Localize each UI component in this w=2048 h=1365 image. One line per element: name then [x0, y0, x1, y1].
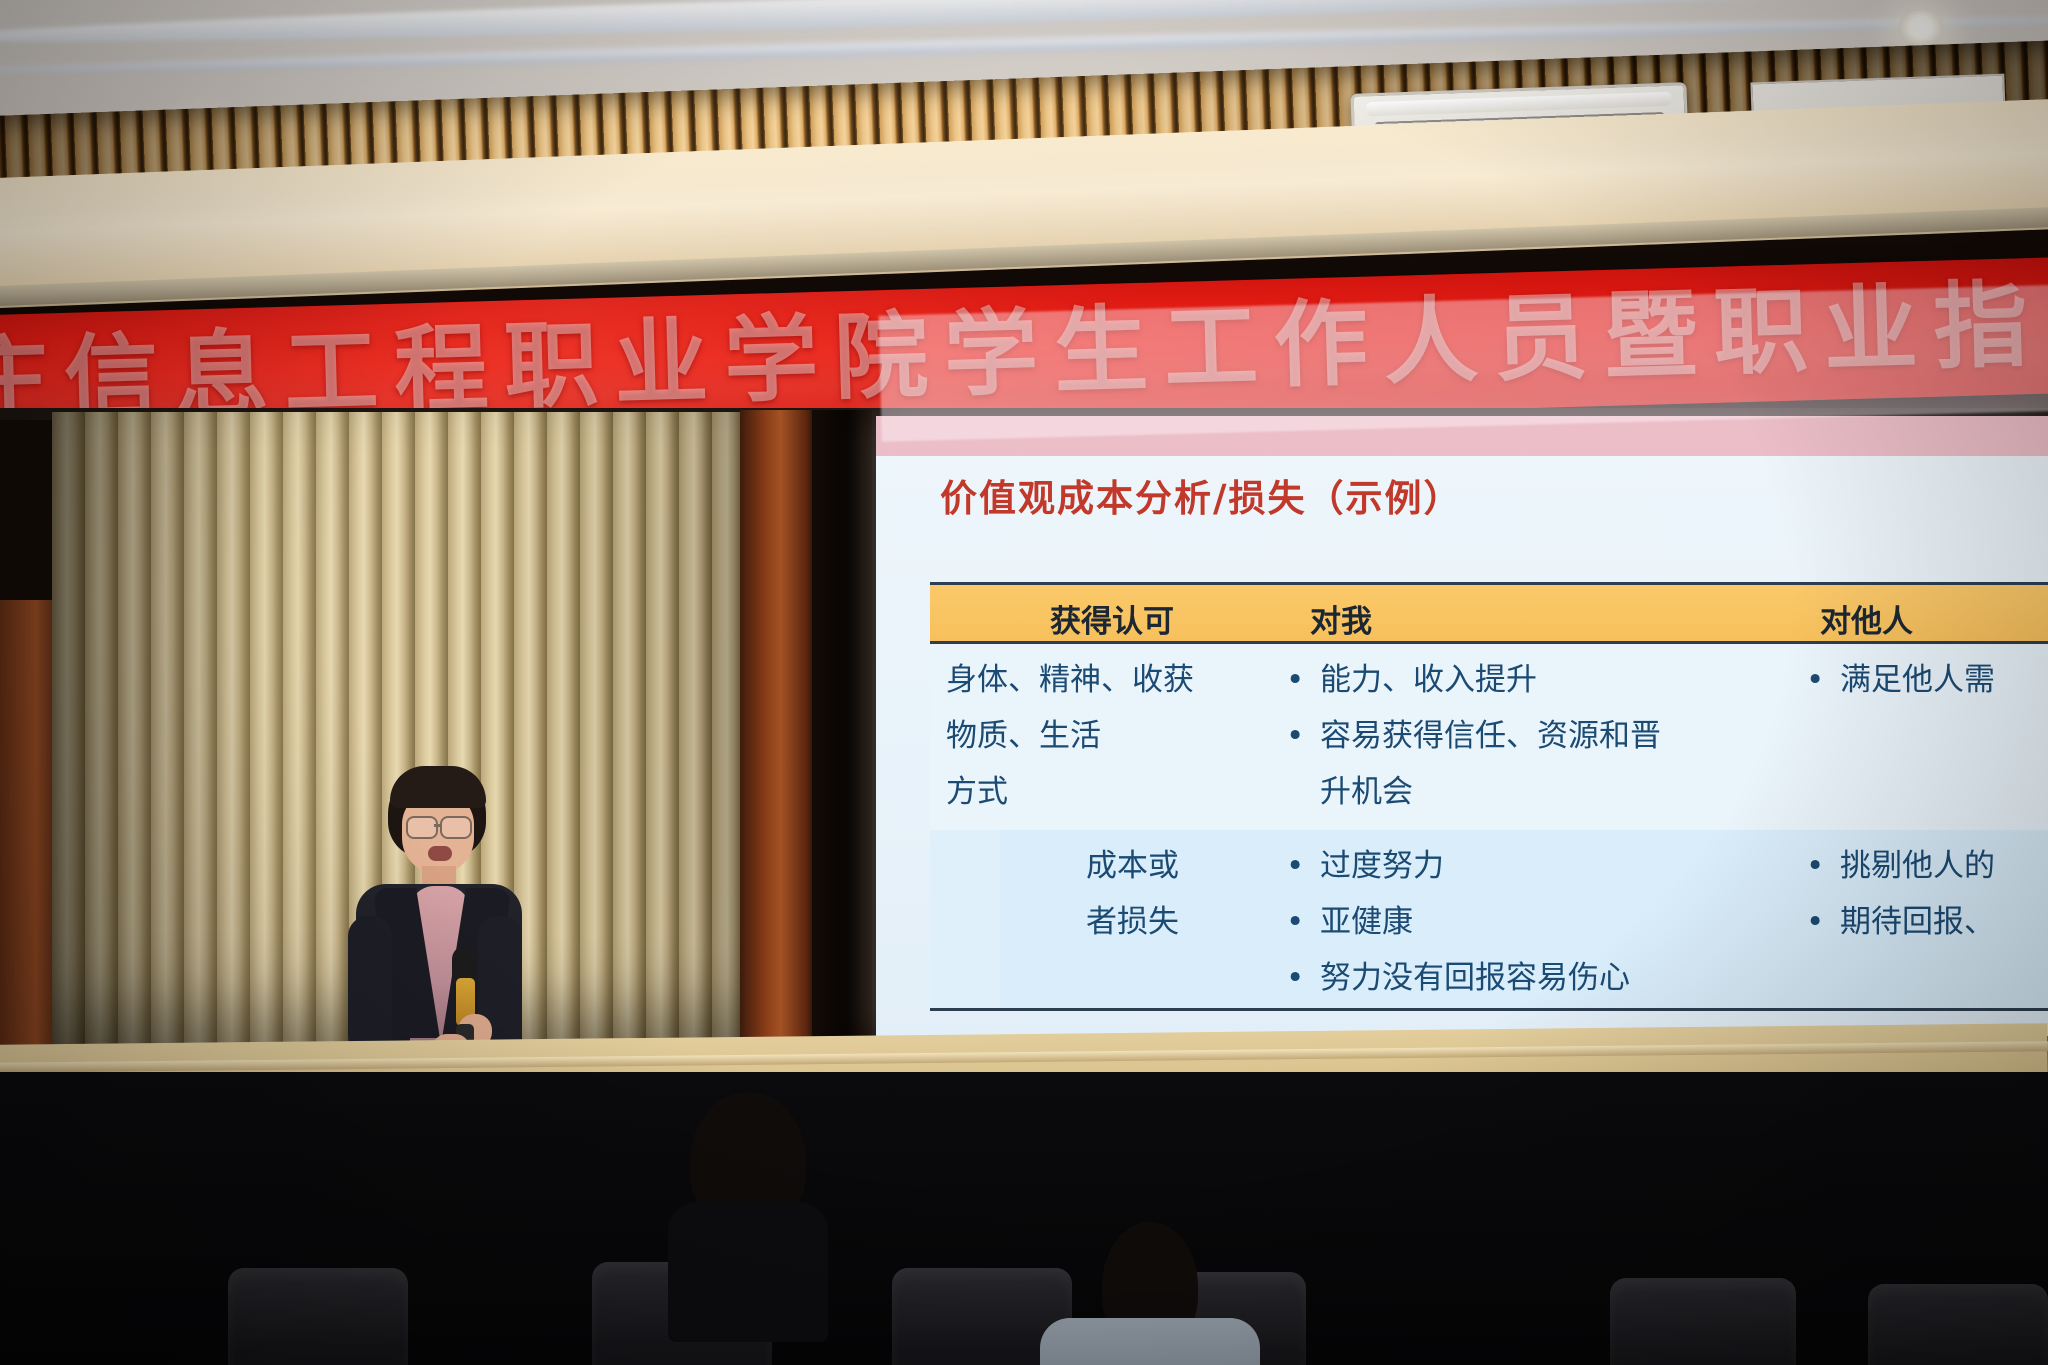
audience-area	[0, 1072, 2048, 1365]
side-door	[0, 600, 60, 1060]
table-cell-bullet-item: •努力没有回报容易伤心	[1286, 950, 1630, 1006]
presenter-fringe	[390, 766, 486, 808]
table-cell-text: 方式	[946, 764, 1008, 820]
glasses-bridge	[434, 824, 441, 827]
bullet-icon: •	[1286, 950, 1320, 1006]
bullet-icon: •	[1286, 894, 1320, 950]
microphone-icon	[452, 946, 478, 982]
table-cell-text: 成本或	[1086, 838, 1179, 894]
bullet-icon: •	[1286, 652, 1320, 708]
glasses-icon	[406, 816, 438, 839]
table-cell-bullet-item: •容易获得信任、资源和晋	[1286, 708, 1661, 764]
table-cell-bullet-item: •挑剔他人的	[1806, 838, 1995, 894]
table-cell-bullet-item: •亚健康	[1286, 894, 1413, 950]
bullet-icon: •	[1806, 894, 1840, 950]
left-dark-wall	[0, 420, 58, 610]
presenter-arm-left	[348, 916, 392, 1056]
presenter-mouth	[428, 846, 452, 861]
audience-seat[interactable]	[1868, 1284, 2048, 1365]
auditorium-photo: 庄信息工程职业学院学生工作人员暨职业指 价值观成本分析/损失（示例） 获得认可 …	[0, 0, 2048, 1365]
bullet-text: 努力没有回报容易伤心	[1320, 960, 1630, 996]
attendee-body	[1040, 1318, 1260, 1365]
bullet-text: 容易获得信任、资源和晋	[1320, 718, 1661, 754]
slide-title: 价值观成本分析/损失（示例）	[940, 468, 1640, 522]
list-item	[1040, 1222, 1260, 1365]
table-cell-bullet-item: •满足他人需	[1806, 652, 1995, 708]
downlight-icon	[1898, 10, 1944, 48]
table-cell-text: 物质、生活	[946, 708, 1101, 764]
attendee-body	[668, 1202, 828, 1342]
table-bottom-rule	[930, 1008, 2048, 1011]
table-cell-bullet-item: •过度努力	[1286, 838, 1444, 894]
bullet-text: 期待回报、	[1840, 904, 1995, 940]
audience-seat[interactable]	[1610, 1278, 1796, 1365]
table-header-cell-to-others: 对他人	[1820, 596, 1913, 641]
table-cell-bullet-item: •期待回报、	[1806, 894, 1995, 950]
bullet-text: 亚健康	[1320, 904, 1413, 940]
table-cell-text: 者损失	[1086, 894, 1179, 950]
bullet-icon: •	[1806, 838, 1840, 894]
dark-gap	[812, 410, 872, 1070]
glasses-icon	[440, 816, 472, 839]
bullet-text: 能力、收入提升	[1320, 662, 1537, 698]
bullet-text: 挑剔他人的	[1840, 848, 1995, 884]
bullet-text: 过度努力	[1320, 848, 1444, 884]
table-cell-text: 身体、精神、收获	[946, 652, 1194, 708]
table-cell-text: 升机会	[1286, 764, 1413, 820]
table-cell-bullet-item: •能力、收入提升	[1286, 652, 1537, 708]
audience-seat[interactable]	[228, 1268, 408, 1365]
wooden-pillar	[740, 410, 814, 1070]
bullet-icon: •	[1806, 652, 1840, 708]
table-header-cell-to-me: 对我	[1310, 596, 1372, 641]
bullet-icon: •	[1286, 838, 1320, 894]
bullet-text: 满足他人需	[1840, 662, 1995, 698]
table-header-cell-recognition: 获得认可	[1050, 596, 1174, 641]
bullet-icon: •	[1286, 708, 1320, 764]
list-item	[668, 1092, 828, 1322]
